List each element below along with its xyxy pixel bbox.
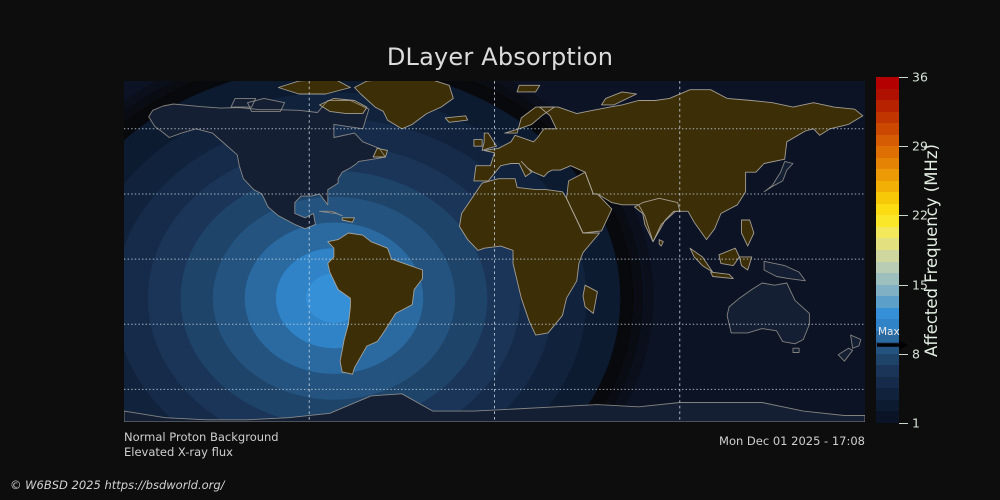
colorbar-segment [876,181,899,193]
colorbar-tick [899,77,908,78]
colorbar-segment [876,77,899,89]
colorbar-segment [876,146,899,158]
figure-root: DLayer Absorption [0,0,1000,500]
colorbar-segment [876,112,899,124]
colorbar-tick [899,215,908,216]
colorbar-segment [876,227,899,239]
colorbar-segment [876,169,899,181]
colorbar-segment [876,250,899,262]
colorbar-segment [876,308,899,320]
colorbar[interactable] [876,77,899,423]
land-tasmania [793,348,799,352]
colorbar-segment [876,377,899,389]
colorbar-segment [876,273,899,285]
colorbar-segment [876,354,899,366]
colorbar-segment [876,135,899,147]
colorbar-segment [876,89,899,101]
arrow-right-icon [877,339,911,351]
colorbar-tick [899,285,908,286]
colorbar-tick [899,146,908,147]
colorbar-axis-label-text: Affected Frequency (MHz) [922,144,941,357]
page-title: DLayer Absorption [0,43,1000,71]
map-canvas [124,81,865,422]
colorbar-segment [876,365,899,377]
status-proton: Normal Proton Background [124,430,279,444]
colorbar-segment [876,388,899,400]
colorbar-tick [899,354,908,355]
status-xray: Elevated X-ray flux [124,445,233,459]
colorbar-segment [876,262,899,274]
colorbar-segment [876,285,899,297]
land-ireland [474,140,482,147]
colorbar-segment [876,296,899,308]
colorbar-segment [876,192,899,204]
credit-line: © W6BSD 2025 https://bsdworld.org/ [10,478,225,492]
max-annotation: Max [877,328,911,352]
colorbar-segment [876,238,899,250]
timestamp: Mon Dec 01 2025 - 17:08 [719,434,865,448]
colorbar-segment [876,100,899,112]
colorbar-segment [876,400,899,412]
colorbar-segment [876,204,899,216]
colorbar-tick [899,423,908,424]
colorbar-segment [876,158,899,170]
colorbar-segment [876,215,899,227]
world-map[interactable] [124,81,865,422]
colorbar-segment [876,411,899,423]
colorbar-axis-label: Affected Frequency (MHz) [918,77,944,423]
max-annotation-label: Max [878,327,900,338]
colorbar-segment [876,123,899,135]
